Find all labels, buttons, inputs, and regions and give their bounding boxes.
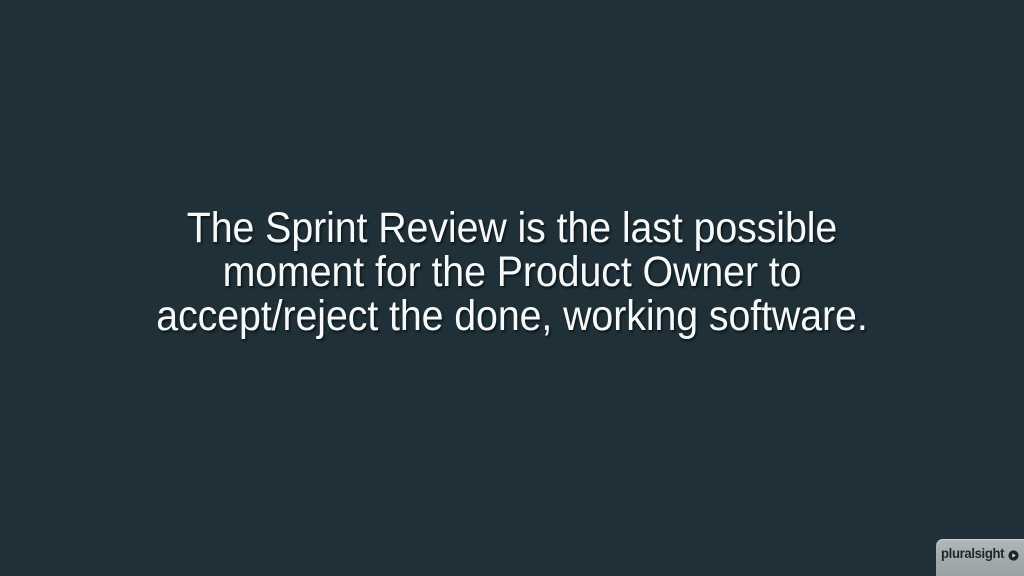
watermark-content: pluralsight <box>941 547 1020 561</box>
quote-line-2: moment for the Product Owner to <box>98 250 925 294</box>
quote-text-block: The Sprint Review is the last possible m… <box>0 206 1024 338</box>
pluralsight-brand-label: pluralsight <box>941 547 1004 561</box>
slide-canvas: The Sprint Review is the last possible m… <box>0 0 1024 576</box>
pluralsight-watermark: pluralsight <box>936 539 1024 576</box>
play-circle-icon <box>1008 550 1019 561</box>
quote-line-3: accept/reject the done, working software… <box>98 294 925 338</box>
quote-line-1: The Sprint Review is the last possible <box>98 206 925 250</box>
